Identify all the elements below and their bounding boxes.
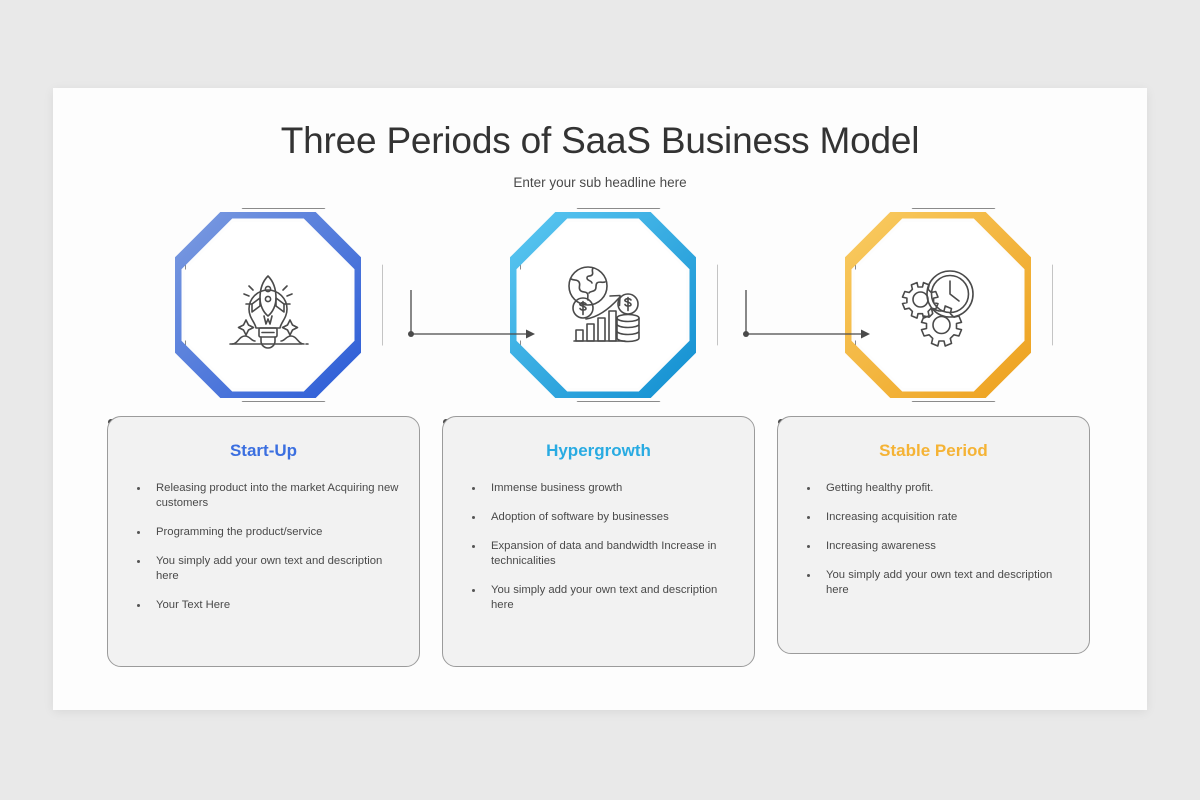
slide-header: Three Periods of SaaS Business Model Ent… [53, 88, 1147, 190]
arrow-hypergrowth-to-stable-period [743, 324, 871, 344]
period-column-hypergrowth [442, 212, 777, 408]
gears-clock-icon [888, 254, 988, 354]
list-item: Your Text Here [134, 598, 401, 613]
period-column-stable-period [777, 212, 1112, 408]
list-item: Programming the product/service [134, 525, 401, 540]
badge-stable-period[interactable] [845, 212, 1045, 408]
bullet-list-start-up: Releasing product into the market Acquir… [108, 461, 419, 613]
list-item: Increasing acquisition rate [804, 510, 1071, 525]
list-item: Immense business growth [469, 481, 736, 496]
rocket-lightbulb-icon [218, 254, 318, 354]
card-title-start-up: Start-Up [108, 417, 419, 461]
card-title-stable-period: Stable Period [778, 417, 1089, 461]
list-item: You simply add your own text and descrip… [469, 583, 736, 613]
list-item: Getting healthy profit. [804, 481, 1071, 496]
globe-growth-chart-icon [553, 254, 653, 354]
list-item: Adoption of software by businesses [469, 510, 736, 525]
card-hypergrowth[interactable]: Hypergrowth Immense business growth Adop… [442, 416, 755, 667]
card-stable-period[interactable]: Stable Period Getting healthy profit. In… [777, 416, 1090, 654]
page-title: Three Periods of SaaS Business Model [53, 88, 1147, 162]
list-item: Releasing product into the market Acquir… [134, 481, 401, 511]
period-column-start-up [107, 212, 442, 408]
list-item: Increasing awareness [804, 539, 1071, 554]
list-item: You simply add your own text and descrip… [804, 568, 1071, 598]
badge-start-up[interactable] [175, 212, 375, 408]
page-subtitle: Enter your sub headline here [53, 162, 1147, 190]
list-item: Expansion of data and bandwidth Increase… [469, 539, 736, 569]
arrow-start-up-to-hypergrowth [408, 324, 536, 344]
card-start-up[interactable]: Start-Up Releasing product into the mark… [107, 416, 420, 667]
bullet-list-hypergrowth: Immense business growth Adoption of soft… [443, 461, 754, 613]
card-title-hypergrowth: Hypergrowth [443, 417, 754, 461]
badge-hypergrowth[interactable] [510, 212, 710, 408]
slide-canvas: Three Periods of SaaS Business Model Ent… [53, 88, 1147, 710]
list-item: You simply add your own text and descrip… [134, 554, 401, 584]
bullet-list-stable-period: Getting healthy profit. Increasing acqui… [778, 461, 1089, 598]
